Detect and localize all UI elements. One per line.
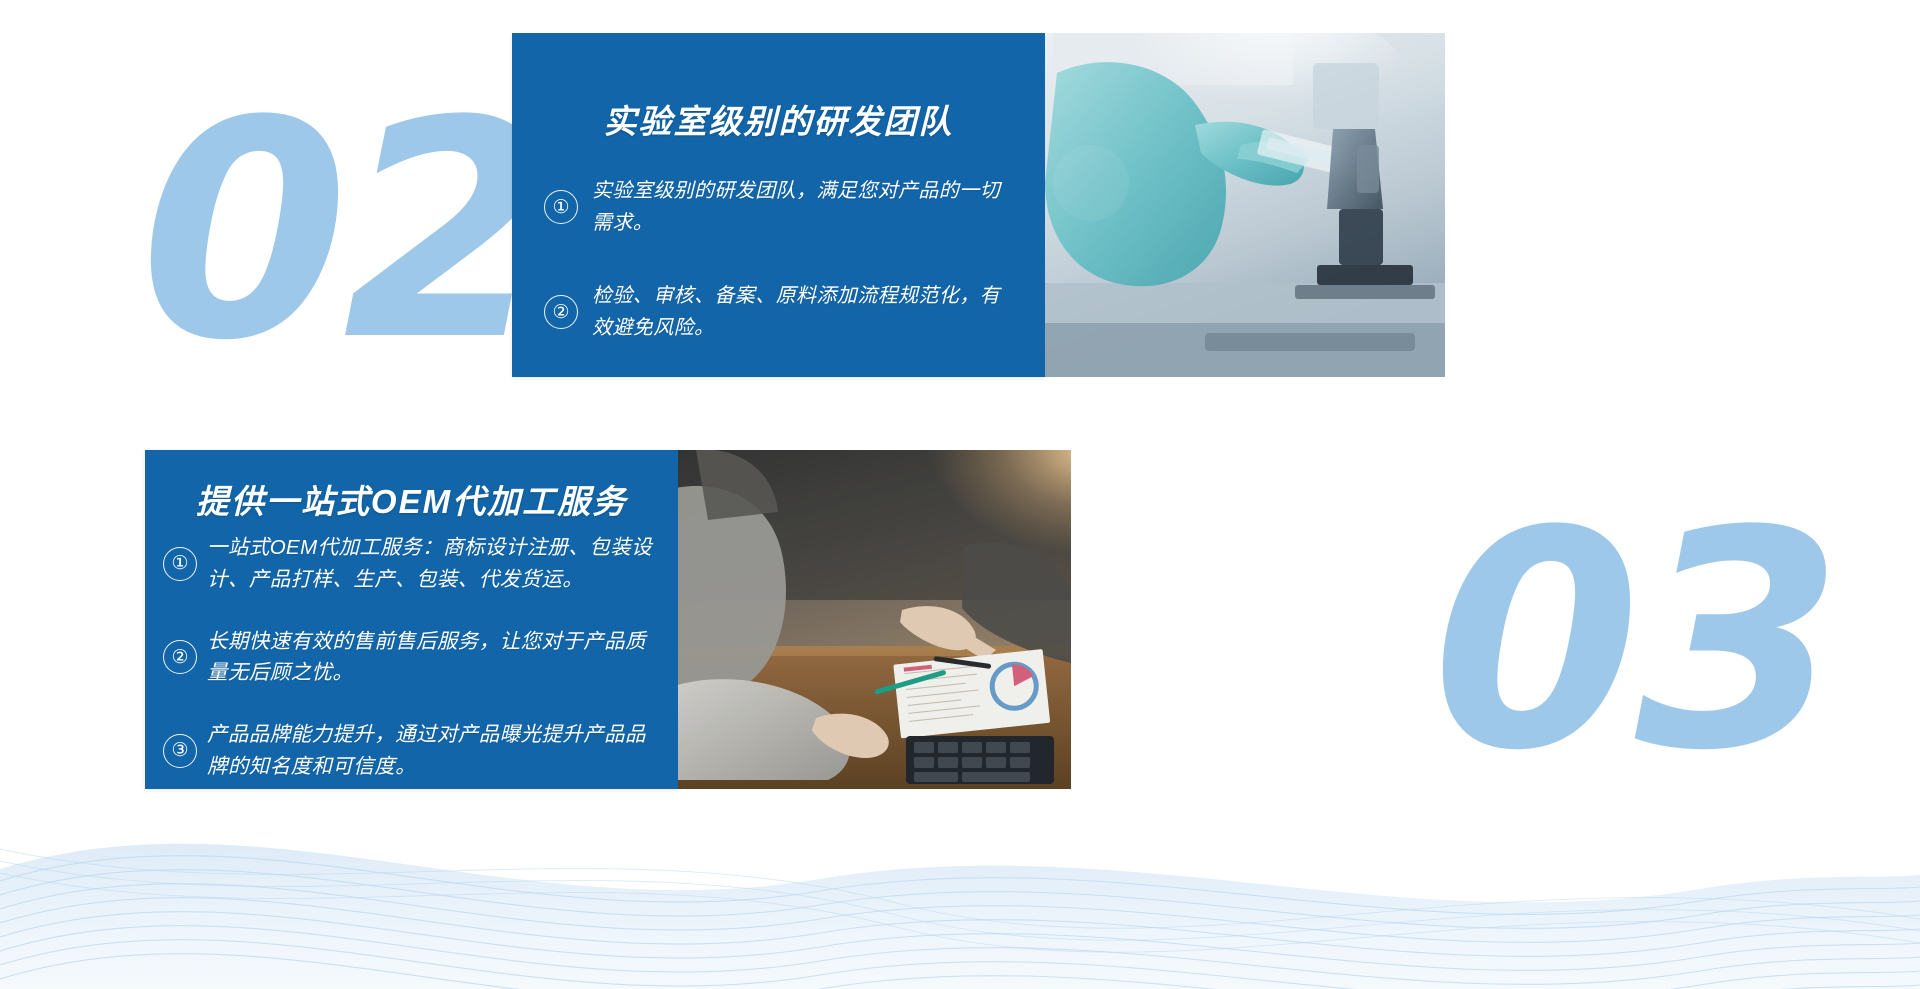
bullet-text: 一站式OEM代加工服务：商标设计注册、包装设计、产品打样、生产、包装、代发货运。 — [207, 532, 662, 596]
bullet-text: 长期快速有效的售前售后服务，让您对于产品质量无后顾之忧。 — [207, 626, 662, 690]
section-title-03: 提供一站式OEM代加工服务 — [145, 475, 678, 523]
bullet-marker-icon: ③ — [163, 734, 197, 768]
section-numeral-03: 03 — [1432, 492, 1837, 792]
bullet-list-02: ① 实验室级别的研发团队，满足您对产品的一切需求。 ② 检验、审核、备案、原料添… — [512, 175, 1045, 345]
bullet-text: 产品品牌能力提升，通过对产品曝光提升产品品牌的知名度和可信度。 — [207, 719, 662, 783]
section-panel-03: 提供一站式OEM代加工服务 ① 一站式OEM代加工服务：商标设计注册、包装设计、… — [145, 450, 678, 789]
bullet-marker-icon: ② — [544, 295, 578, 329]
list-item: ① 实验室级别的研发团队，满足您对产品的一切需求。 — [544, 175, 1019, 240]
section-panel-02: 实验室级别的研发团队 ① 实验室级别的研发团队，满足您对产品的一切需求。 ② 检… — [512, 33, 1045, 377]
section-photo-02-lab — [1045, 33, 1445, 377]
bullet-marker-icon: ② — [163, 640, 197, 674]
bullet-marker-icon: ① — [544, 190, 578, 224]
bullet-text: 实验室级别的研发团队，满足您对产品的一切需求。 — [592, 175, 1019, 240]
bullet-list-03: ① 一站式OEM代加工服务：商标设计注册、包装设计、产品打样、生产、包装、代发货… — [145, 532, 678, 783]
bullet-marker-icon: ① — [163, 547, 197, 581]
bullet-text: 检验、审核、备案、原料添加流程规范化，有效避免风险。 — [592, 280, 1019, 345]
list-item: ① 一站式OEM代加工服务：商标设计注册、包装设计、产品打样、生产、包装、代发货… — [163, 532, 662, 596]
list-item: ③ 产品品牌能力提升，通过对产品曝光提升产品品牌的知名度和可信度。 — [163, 719, 662, 783]
section-numeral-02: 02 — [140, 82, 545, 382]
section-title-02: 实验室级别的研发团队 — [512, 95, 1045, 143]
list-item: ② 长期快速有效的售前售后服务，让您对于产品质量无后顾之忧。 — [163, 626, 662, 690]
section-photo-03-meeting — [678, 450, 1071, 789]
page-root: 02 实验室级别的研发团队 ① 实验室级别的研发团队，满足您对产品的一切需求。 … — [0, 0, 1920, 989]
list-item: ② 检验、审核、备案、原料添加流程规范化，有效避免风险。 — [544, 280, 1019, 345]
